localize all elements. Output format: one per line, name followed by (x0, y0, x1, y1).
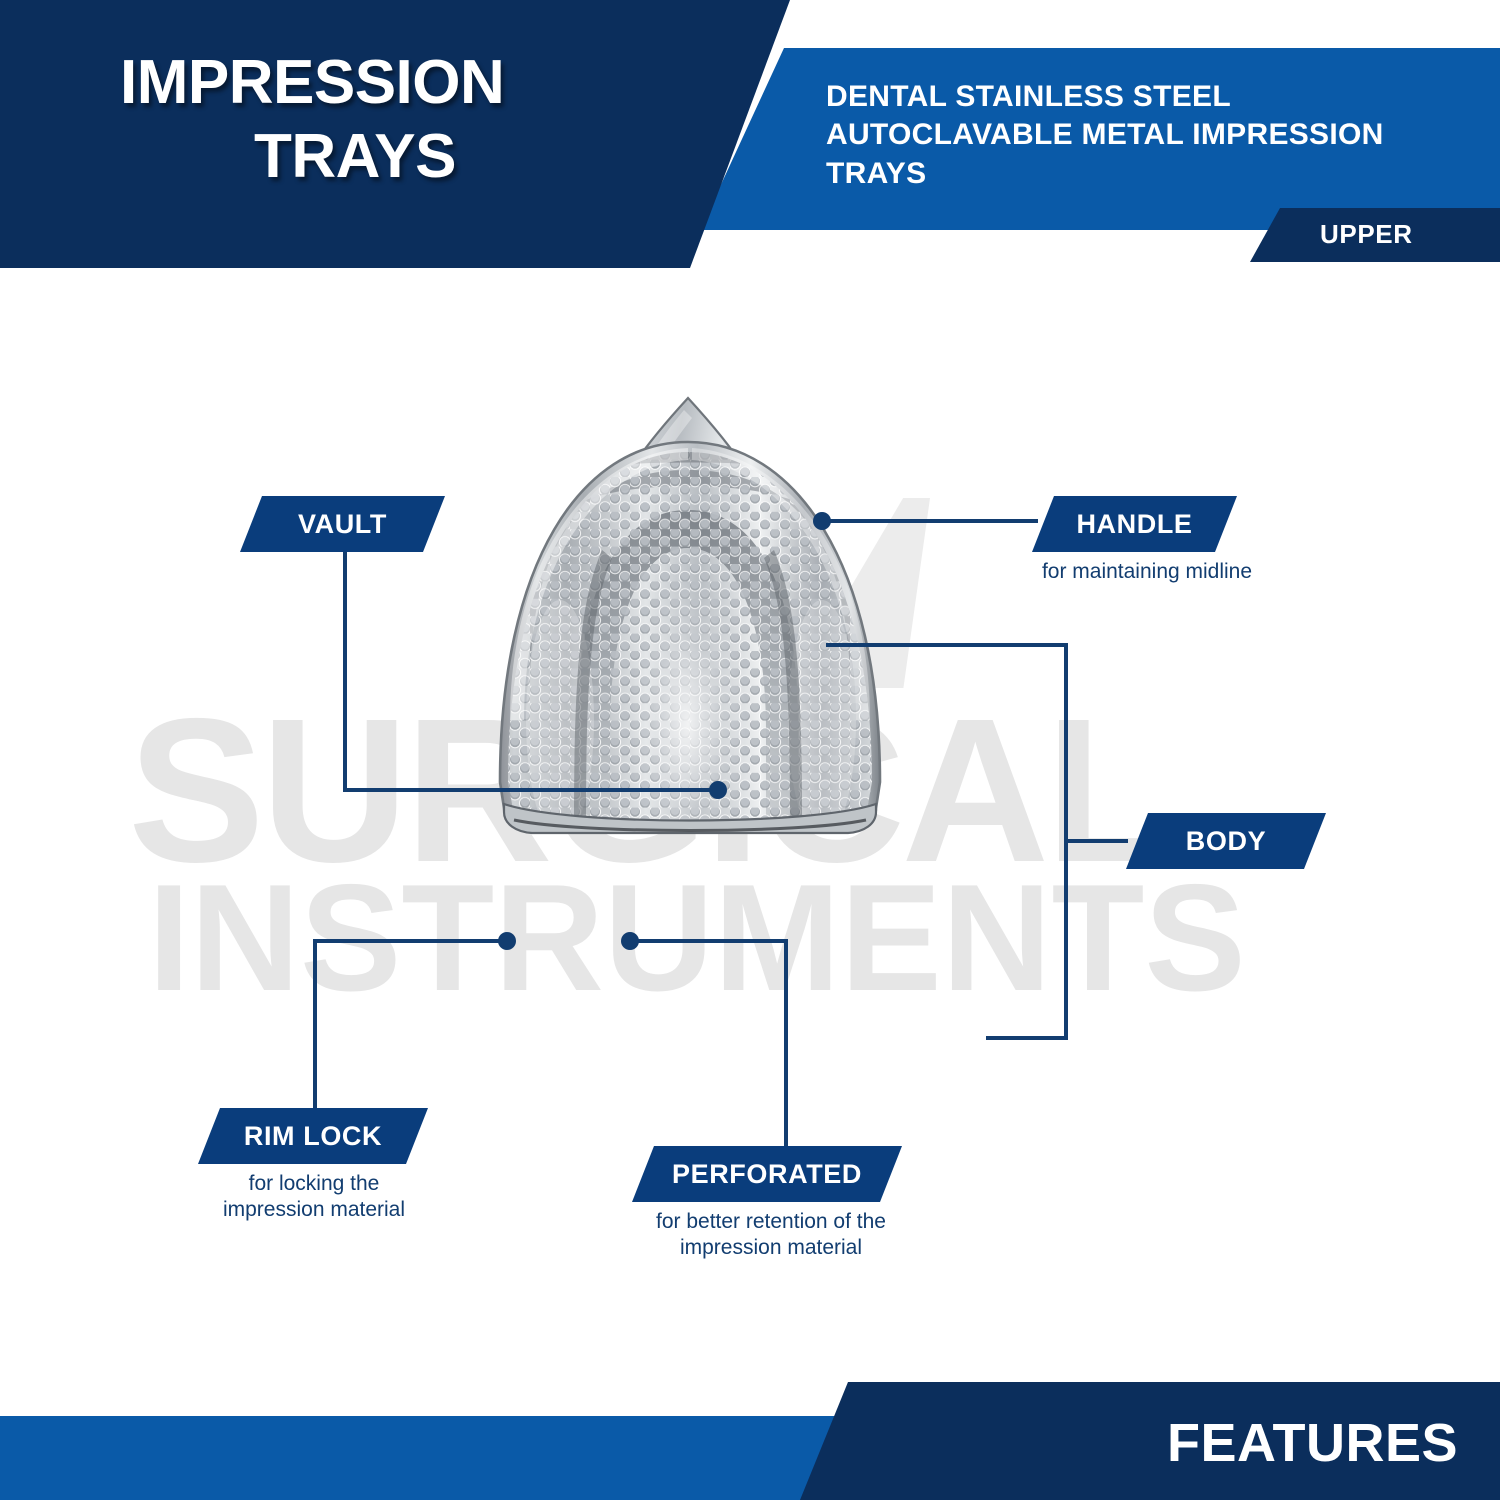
connector-handle (813, 512, 1038, 530)
callout-rim-lock-subtitle-line2: impression material (198, 1197, 430, 1223)
callout-perforated-label: PERFORATED (632, 1146, 902, 1202)
infographic-canvas: SURGICAL INSTRUMENTS IMPRESSION TRAYS DE… (0, 0, 1500, 1500)
callout-handle[interactable]: HANDLE for maintaining midline (1032, 496, 1276, 585)
callout-rim-lock-label: RIM LOCK (198, 1108, 428, 1164)
connector-rim-lock (315, 932, 516, 1110)
connector-vault (345, 552, 727, 799)
callout-connector-lines (0, 0, 1500, 1500)
callout-perforated-subtitle-line2: impression material (632, 1235, 910, 1261)
callout-handle-label: HANDLE (1032, 496, 1237, 552)
callout-handle-subtitle: for maintaining midline (1018, 559, 1276, 585)
callout-body[interactable]: BODY (1126, 813, 1326, 869)
callout-perforated-subtitle-line1: for better retention of the (632, 1209, 910, 1235)
callout-body-label: BODY (1126, 813, 1326, 869)
callout-rim-lock-subtitle-line1: for locking the (198, 1171, 430, 1197)
callout-perforated[interactable]: PERFORATED for better retention of the i… (632, 1146, 910, 1260)
connector-body (826, 645, 1128, 1038)
connector-perforated (621, 932, 786, 1148)
callout-vault-label: VAULT (240, 496, 445, 552)
callout-rim-lock[interactable]: RIM LOCK for locking the impression mate… (198, 1108, 430, 1222)
callout-vault[interactable]: VAULT (240, 496, 445, 552)
